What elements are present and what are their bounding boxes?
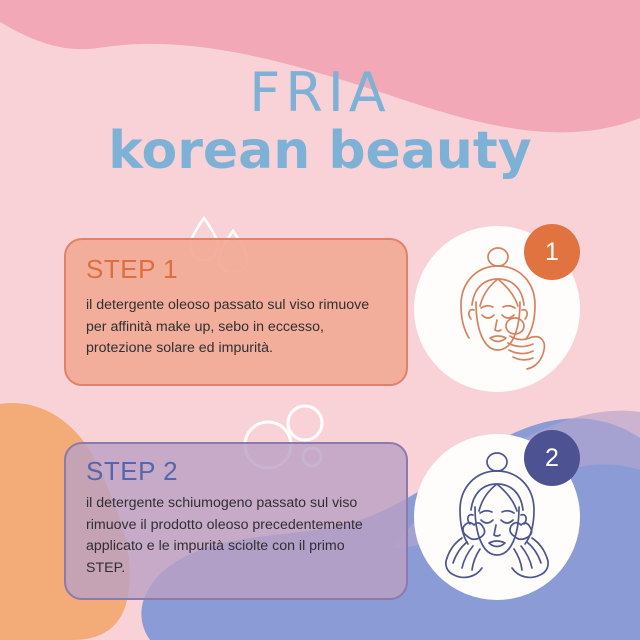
step-1-description: il detergente oleoso passato sul viso ri…: [66, 285, 406, 360]
step-2-badge: 2: [524, 430, 580, 486]
step-2-description: il detergente schiumogeno passato sul vi…: [66, 487, 406, 579]
step-1-card[interactable]: STEP 1 il detergente oleoso passato sul …: [64, 238, 408, 386]
step-1-badge: 1: [524, 224, 580, 280]
skincare-infographic-poster: FRIA korean beauty STEP 1 il detergente …: [0, 0, 640, 640]
step-2-card[interactable]: STEP 2 il detergente schiumogeno passato…: [64, 442, 408, 600]
step-2-title: STEP 2: [66, 444, 406, 487]
step-1-title: STEP 1: [66, 240, 406, 285]
bubble-icon: [288, 406, 322, 440]
